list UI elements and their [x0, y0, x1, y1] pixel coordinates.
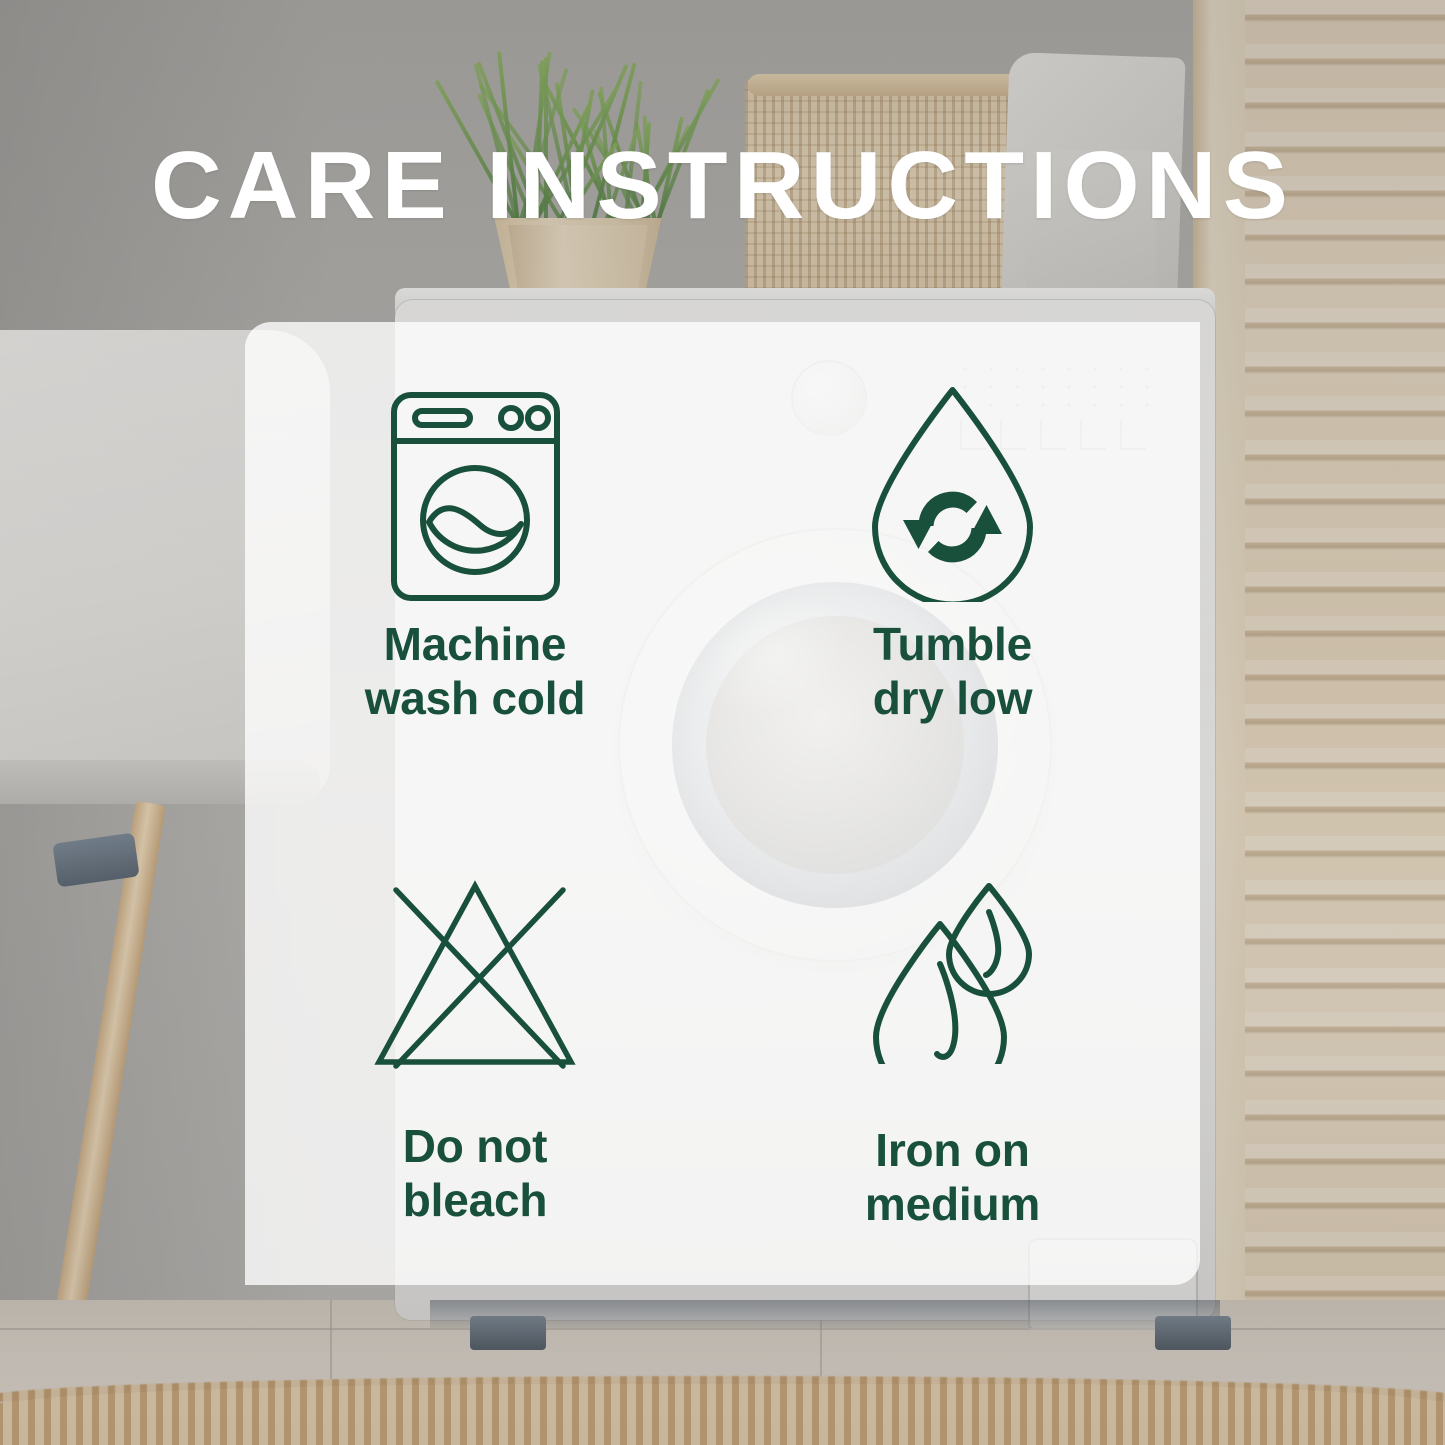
card-do-not-bleach[interactable]: Do not bleach [245, 790, 705, 1285]
card-iron-on-medium[interactable]: Iron on medium [705, 790, 1200, 1285]
caption-line-1: Iron on [865, 1124, 1040, 1178]
caption-line-1: Tumble [873, 618, 1033, 672]
care-symbol-grid: Machine wash cold [245, 322, 1200, 1285]
card-caption-machine-wash-cold: Machine wash cold [365, 618, 586, 726]
caption-line-2: medium [865, 1178, 1040, 1232]
caption-line-1: Do not [403, 1120, 548, 1174]
card-caption-iron-on-medium: Iron on medium [865, 1124, 1040, 1232]
card-machine-wash-cold[interactable]: Machine wash cold [245, 322, 705, 790]
caption-line-2: bleach [403, 1174, 548, 1228]
crossed-triangle-icon [245, 790, 705, 1090]
caption-line-2: wash cold [365, 672, 586, 726]
card-caption-do-not-bleach: Do not bleach [403, 1120, 548, 1228]
droplet-refresh-icon [705, 322, 1200, 612]
care-instructions-graphic: CARE INSTRUCTIONS Machine wash cold [0, 0, 1445, 1445]
two-droplets-icon [705, 790, 1200, 1090]
washing-machine-icon [245, 322, 705, 612]
caption-line-2: dry low [873, 672, 1033, 726]
caption-line-1: Machine [365, 618, 586, 672]
card-tumble-dry-low[interactable]: Tumble dry low [705, 322, 1200, 790]
page-title: CARE INSTRUCTIONS [0, 138, 1445, 234]
card-caption-tumble-dry-low: Tumble dry low [873, 618, 1033, 726]
